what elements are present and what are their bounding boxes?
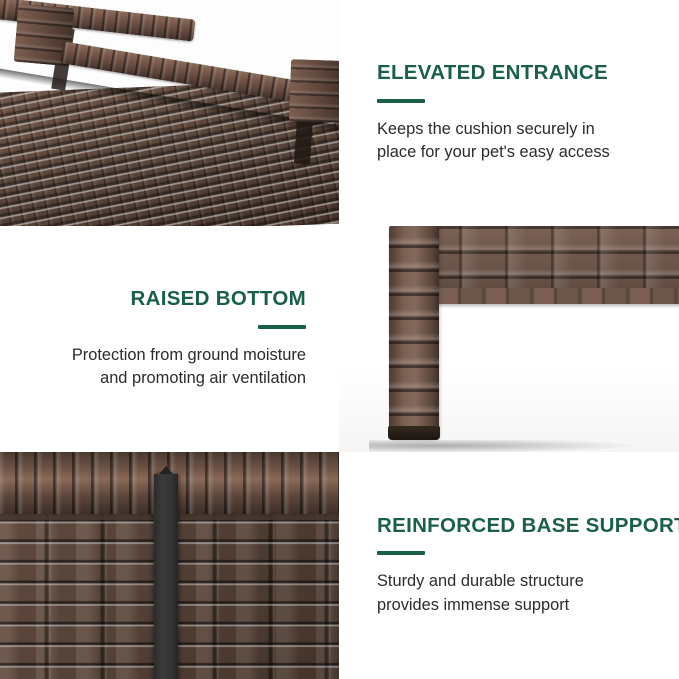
description-line: Keeps the cushion securely in	[377, 118, 610, 141]
heading-underline-rule	[258, 325, 306, 329]
description-line: and promoting air ventilation	[72, 367, 306, 390]
feature-description-elevated-entrance: Keeps the cushion securely in place for …	[377, 118, 610, 165]
description-line: place for your pet's easy access	[377, 141, 610, 164]
feature-description-raised-bottom: Protection from ground moisture and prom…	[72, 344, 306, 391]
photo-panel-raised-bottom	[339, 226, 679, 452]
feature-heading-elevated-entrance: ELEVATED ENTRANCE	[377, 61, 608, 85]
feature-heading-reinforced-base: REINFORCED BASE SUPPORT	[377, 514, 679, 538]
heading-underline-rule	[377, 551, 425, 555]
leg-foot-cap	[388, 426, 440, 440]
description-line: Sturdy and durable structure	[377, 570, 584, 593]
wicker-wrapped-leg	[389, 226, 439, 440]
photo-panel-elevated-entrance	[0, 0, 339, 226]
feature-infographic-grid: ELEVATED ENTRANCE Keeps the cushion secu…	[0, 0, 679, 679]
text-panel-raised-bottom: RAISED BOTTOM Protection from ground moi…	[0, 226, 339, 452]
description-line: provides immense support	[377, 594, 584, 617]
photo-panel-reinforced-base	[0, 452, 339, 679]
feature-description-reinforced-base: Sturdy and durable structure provides im…	[377, 570, 584, 617]
text-panel-elevated-entrance: ELEVATED ENTRANCE Keeps the cushion secu…	[339, 0, 679, 226]
text-panel-reinforced-base: REINFORCED BASE SUPPORT Sturdy and durab…	[339, 452, 679, 679]
reinforced-corner-post	[154, 474, 178, 679]
wicker-apron-bottom-edge	[413, 288, 679, 304]
feature-heading-raised-bottom: RAISED BOTTOM	[131, 287, 307, 311]
heading-underline-rule	[377, 99, 425, 103]
wicker-corner-post-right	[289, 59, 339, 123]
floor-shadow	[369, 440, 669, 452]
description-line: Protection from ground moisture	[72, 344, 306, 367]
